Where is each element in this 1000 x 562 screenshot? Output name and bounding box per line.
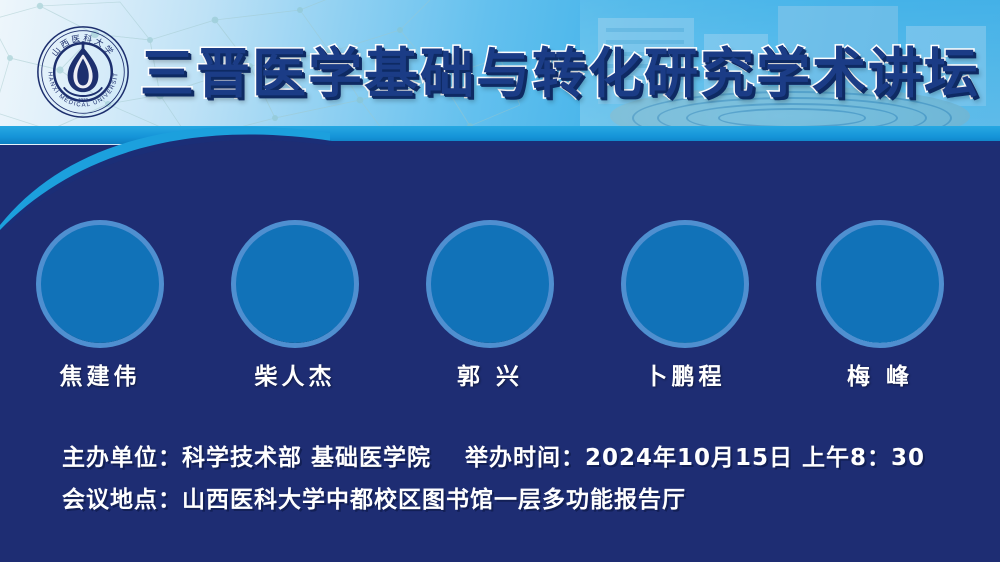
speaker-card[interactable]: 焦建伟 bbox=[2, 225, 198, 391]
speaker-avatar bbox=[236, 225, 354, 343]
speaker-name: 柴人杰 bbox=[197, 357, 393, 391]
poster-footer: 主办单位：科学技术部 基础医学院举办时间：2024年10月15日 上午8：30 … bbox=[62, 437, 962, 521]
university-logo-icon: 山西医科大学 SHANXI MEDICAL UNIVERSITY 1919 bbox=[35, 24, 131, 120]
time-value: 2024年10月15日 上午8：30 bbox=[585, 445, 925, 471]
speaker-avatar bbox=[41, 225, 159, 343]
speaker-name: 郭 兴 bbox=[392, 357, 588, 391]
footer-line-venue: 会议地点：山西医科大学中都校区图书馆一层多功能报告厅 bbox=[62, 479, 962, 521]
speaker-card[interactable]: 柴人杰 bbox=[197, 225, 393, 391]
speaker-avatar bbox=[821, 225, 939, 343]
speaker-avatar bbox=[431, 225, 549, 343]
speaker-avatar bbox=[626, 225, 744, 343]
poster-title: 三晋医学基础与转化研究学术讲坛 bbox=[140, 28, 940, 108]
organizer-label: 主办单位： bbox=[62, 445, 182, 471]
speaker-name: 卜鹏程 bbox=[587, 357, 783, 391]
footer-line-organizer-time: 主办单位：科学技术部 基础医学院举办时间：2024年10月15日 上午8：30 bbox=[62, 437, 962, 479]
venue-label: 会议地点： bbox=[62, 487, 182, 513]
speaker-card[interactable]: 卜鹏程 bbox=[587, 225, 783, 391]
organizer-value: 科学技术部 基础医学院 bbox=[182, 445, 431, 471]
venue-value: 山西医科大学中都校区图书馆一层多功能报告厅 bbox=[182, 487, 686, 513]
speaker-card[interactable]: 梅 峰 bbox=[782, 225, 978, 391]
speaker-name: 梅 峰 bbox=[782, 357, 978, 391]
speaker-card[interactable]: 郭 兴 bbox=[392, 225, 588, 391]
speaker-name: 焦建伟 bbox=[2, 357, 198, 391]
speakers-row: 焦建伟 bbox=[0, 225, 1000, 400]
logo-year-text: 1919 bbox=[78, 97, 88, 102]
poster-root: SHANXI MEDICAL UNIVERSITY 山西医科大学 SHANXI … bbox=[0, 0, 1000, 562]
time-label: 举办时间： bbox=[465, 445, 585, 471]
